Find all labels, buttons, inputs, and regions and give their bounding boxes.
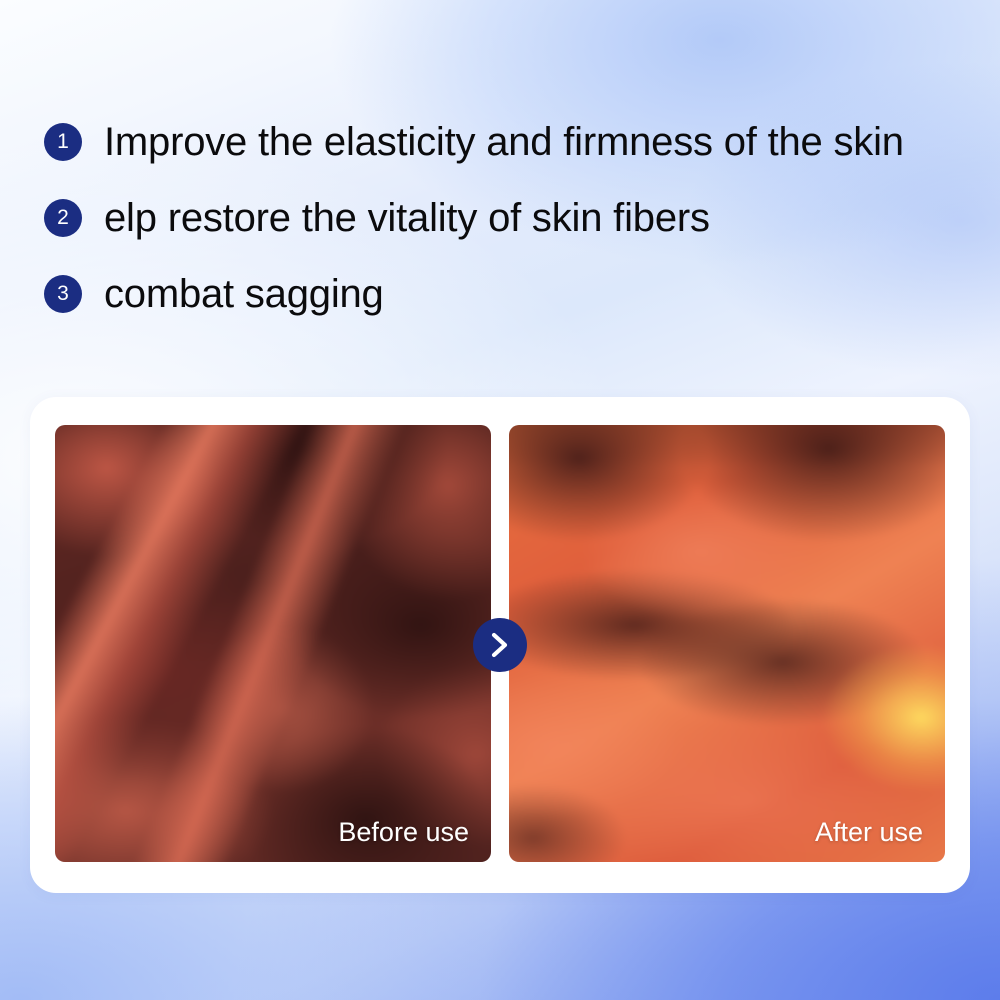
after-photo-image bbox=[509, 425, 945, 862]
benefit-text-1: Improve the elasticity and firmness of t… bbox=[104, 121, 904, 163]
benefit-number-badge-1: 1 bbox=[44, 123, 82, 161]
benefit-item-3: 3 combat sagging bbox=[44, 256, 984, 332]
benefit-number-badge-3: 3 bbox=[44, 275, 82, 313]
benefit-number-badge-2: 2 bbox=[44, 199, 82, 237]
after-photo-caption: After use bbox=[815, 818, 923, 848]
benefit-item-2: 2 elp restore the vitality of skin fiber… bbox=[44, 180, 984, 256]
promo-page: 1 Improve the elasticity and firmness of… bbox=[0, 0, 1000, 1000]
benefit-text-3: combat sagging bbox=[104, 273, 384, 315]
benefit-text-2: elp restore the vitality of skin fibers bbox=[104, 197, 710, 239]
before-after-card: Before use After use bbox=[30, 397, 970, 893]
before-photo-caption: Before use bbox=[338, 818, 469, 848]
before-photo-image bbox=[55, 425, 491, 862]
chevron-right-icon bbox=[473, 618, 527, 672]
before-photo: Before use bbox=[55, 425, 491, 862]
after-photo: After use bbox=[509, 425, 945, 862]
benefits-list: 1 Improve the elasticity and firmness of… bbox=[44, 104, 984, 332]
benefit-item-1: 1 Improve the elasticity and firmness of… bbox=[44, 104, 984, 180]
